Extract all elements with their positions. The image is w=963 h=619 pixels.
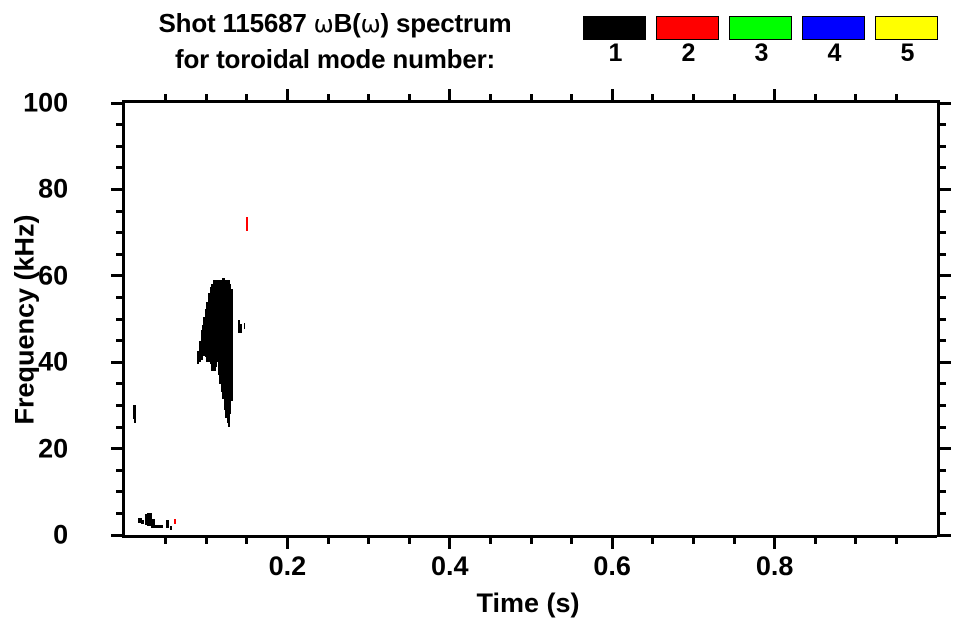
y-tick-minor-50 [116,318,125,321]
y-tick-major-80 [111,188,125,191]
y-tick-minor-right-10 [937,490,946,493]
title-text-post: ) spectrum [381,8,512,38]
x-tick-major-0.2 [286,535,289,549]
y-tick-minor-right-90 [937,145,946,148]
x-tick-minor-top-0.05 [164,94,167,103]
title-text-mid: B( [334,8,361,38]
x-tick-minor-0.10 [205,535,208,544]
data-mark-n1 [244,323,246,329]
y-tick-minor-90 [116,145,125,148]
y-tick-minor-25 [116,426,125,429]
x-tick-minor-top-0.90 [854,94,857,103]
x-tick-label-0.6: 0.6 [593,551,631,582]
x-tick-minor-0.35 [408,535,411,544]
y-tick-minor-right-55 [937,296,946,299]
y-tick-label-100: 100 [23,88,68,119]
y-tick-major-right-40 [937,361,951,364]
y-tick-minor-right-85 [937,166,946,169]
y-tick-major-right-60 [937,274,951,277]
x-tick-minor-0.05 [164,535,167,544]
x-tick-minor-top-0.75 [733,94,736,103]
x-tick-minor-0.65 [651,535,654,544]
legend-entry-4[interactable]: 4 [802,16,867,65]
legend-label-3: 3 [729,41,794,65]
y-tick-minor-right-25 [937,426,946,429]
legend-swatch-4 [802,16,865,40]
x-tick-minor-0.30 [367,535,370,544]
y-tick-label-20: 20 [38,433,68,464]
x-tick-major-0.6 [611,535,614,549]
legend-label-2: 2 [656,41,721,65]
x-tick-minor-0.15 [245,535,248,544]
x-tick-major-0.8 [773,535,776,549]
data-mark-n1 [231,289,233,401]
x-tick-minor-top-0.50 [530,94,533,103]
plot-data-canvas [125,103,937,535]
y-tick-major-right-20 [937,447,951,450]
legend-entry-3[interactable]: 3 [729,16,794,65]
data-mark-n1 [141,520,143,524]
y-tick-minor-55 [116,296,125,299]
x-tick-minor-top-0.55 [570,94,573,103]
x-tick-minor-top-0.70 [692,94,695,103]
y-tick-minor-right-5 [937,512,946,515]
x-tick-minor-0.50 [530,535,533,544]
legend-swatch-5 [875,16,938,40]
x-tick-minor-0.45 [489,535,492,544]
legend-label-5: 5 [875,41,940,65]
x-tick-major-top-0.8 [773,89,776,103]
x-tick-minor-0.95 [895,535,898,544]
y-tick-minor-75 [116,210,125,213]
y-tick-minor-right-65 [937,253,946,256]
y-tick-label-80: 80 [38,174,68,205]
x-tick-minor-top-0.45 [489,94,492,103]
y-tick-minor-45 [116,339,125,342]
y-tick-minor-85 [116,166,125,169]
y-tick-major-right-80 [937,188,951,191]
legend-swatch-1 [583,16,646,40]
x-tick-minor-top-0.25 [327,94,330,103]
omega-glyph-1: ω [314,10,334,38]
y-axis-title-text: Frequency (kHz) [10,214,41,424]
x-tick-minor-top-0.95 [895,94,898,103]
x-axis-title-text: Time (s) [476,588,579,618]
data-mark-n1 [240,324,242,334]
legend-swatch-2 [656,16,719,40]
x-tick-minor-top-0.65 [651,94,654,103]
y-tick-major-right-0 [937,534,951,537]
data-mark-n1 [134,414,136,423]
y-tick-minor-35 [116,382,125,385]
legend-entry-1[interactable]: 1 [583,16,648,65]
legend-label-1: 1 [583,41,648,65]
x-tick-minor-0.85 [814,535,817,544]
y-tick-minor-right-35 [937,382,946,385]
x-tick-minor-top-0.30 [367,94,370,103]
x-tick-minor-0.70 [692,535,695,544]
omega-glyph-2: ω [361,10,381,38]
chart-title-line-2: for toroidal mode number: [100,42,570,77]
data-mark-n2 [174,519,176,524]
data-mark-n1 [166,520,169,528]
y-tick-minor-right-50 [937,318,946,321]
chart-title: Shot 115687 ωB(ω) spectrum for toroidal … [100,6,570,77]
y-tick-major-40 [111,361,125,364]
x-tick-minor-0.55 [570,535,573,544]
title-text-pre: Shot 115687 [159,8,314,38]
y-tick-minor-right-45 [937,339,946,342]
x-tick-label-0.2: 0.2 [269,551,307,582]
y-tick-minor-5 [116,512,125,515]
x-tick-minor-0.25 [327,535,330,544]
y-tick-minor-15 [116,469,125,472]
x-tick-major-0.4 [448,535,451,549]
legend: 12345 [583,16,940,65]
y-tick-minor-30 [116,404,125,407]
y-tick-minor-right-95 [937,123,946,126]
data-mark-n2 [246,223,248,231]
y-tick-label-60: 60 [38,260,68,291]
x-tick-major-top-0.2 [286,89,289,103]
legend-label-4: 4 [802,41,867,65]
x-tick-minor-top-0.35 [408,94,411,103]
legend-entry-2[interactable]: 2 [656,16,721,65]
x-tick-major-top-0.4 [448,89,451,103]
y-tick-minor-95 [116,123,125,126]
x-tick-label-0.4: 0.4 [431,551,469,582]
y-tick-major-right-100 [937,102,951,105]
x-tick-minor-top-0.15 [245,94,248,103]
y-tick-major-0 [111,534,125,537]
plot-area: 0204060801000.20.40.60.8 [122,103,937,538]
x-tick-minor-0.90 [854,535,857,544]
x-axis-title: Time (s) [122,588,934,619]
x-tick-minor-top-0.10 [205,94,208,103]
y-tick-major-20 [111,447,125,450]
x-tick-major-top-0.6 [611,89,614,103]
chart-title-line-1: Shot 115687 ωB(ω) spectrum [100,6,570,42]
y-tick-minor-right-30 [937,404,946,407]
y-tick-label-40: 40 [38,347,68,378]
x-tick-minor-top-0.85 [814,94,817,103]
y-tick-label-0: 0 [53,520,68,551]
y-tick-minor-65 [116,253,125,256]
y-tick-minor-70 [116,231,125,234]
y-tick-major-60 [111,274,125,277]
legend-entry-5[interactable]: 5 [875,16,940,65]
x-tick-label-0.8: 0.8 [756,551,794,582]
legend-swatch-3 [729,16,792,40]
y-tick-major-100 [111,102,125,105]
y-tick-minor-10 [116,490,125,493]
data-mark-n1 [170,526,172,530]
y-tick-minor-right-75 [937,210,946,213]
y-tick-minor-right-70 [937,231,946,234]
y-tick-minor-right-15 [937,469,946,472]
data-mark-n1 [155,525,163,528]
x-tick-minor-0.75 [733,535,736,544]
y-axis-title: Frequency (kHz) [8,103,42,535]
